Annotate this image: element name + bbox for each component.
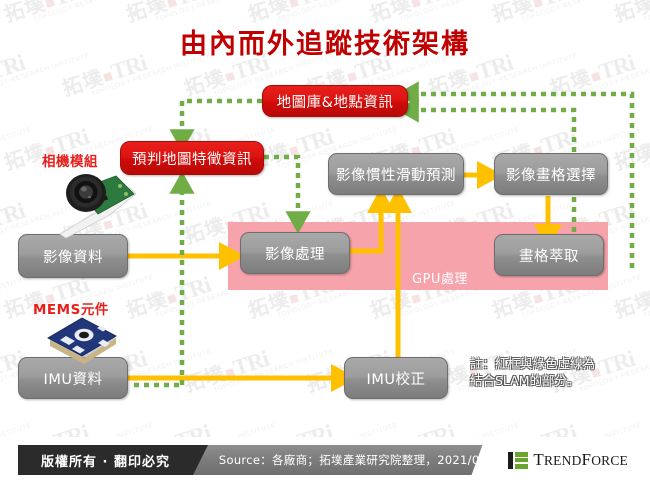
- trendforce-wordmark: TRENDFORCE: [533, 450, 628, 470]
- node-imu-calibrate-label: IMU校正: [367, 368, 426, 389]
- diagram-content: 由內而外追蹤技術架構 GPU處理: [0, 0, 650, 485]
- node-image-process[interactable]: 影像處理: [240, 232, 350, 274]
- trendforce-logo: TRENDFORCE: [487, 437, 632, 483]
- caption-camera-module: 相機模組: [42, 150, 98, 170]
- node-map-db-label: 地圖庫&地點資訊: [277, 91, 394, 112]
- node-map-feature-label: 預判地圖特徵資訊: [132, 148, 252, 169]
- source-text: Source：各廠商；拓墣產業研究院整理，2021/01: [208, 445, 498, 475]
- slam-note: 註：紅框與綠色虛線為 結合SLAM的部分。: [470, 355, 595, 389]
- logo-rend: REND: [544, 453, 582, 468]
- node-frame-select-label: 影像畫格選擇: [506, 164, 596, 185]
- slide-canvas: 拓墣■TRiTOPOLOGY RESEARCH INSTITUTE拓墣■TRiT…: [0, 0, 650, 485]
- logo-t: T: [533, 450, 544, 469]
- node-frame-extract[interactable]: 畫格萃取: [494, 234, 604, 276]
- logo-f: F: [582, 450, 592, 469]
- footer: 版權所有 · 翻印必究 Source：各廠商；拓墣產業研究院整理，2021/01…: [0, 437, 650, 485]
- slam-note-line1: 註：紅框與綠色虛線為: [470, 355, 595, 372]
- node-image-data-label: 影像資料: [43, 246, 103, 267]
- node-inertial-predict-label: 影像慣性滑動預測: [336, 164, 456, 185]
- node-map-db[interactable]: 地圖庫&地點資訊: [262, 85, 408, 117]
- node-frame-extract-label: 畫格萃取: [519, 245, 579, 266]
- node-image-process-label: 影像處理: [265, 243, 325, 264]
- mems-component-image: [40, 312, 124, 368]
- trendforce-mark-icon: [508, 452, 528, 469]
- copyright-text: 版權所有 · 翻印必究: [18, 445, 193, 475]
- gpu-region-label: GPU處理: [412, 268, 468, 287]
- node-image-data[interactable]: 影像資料: [18, 234, 128, 278]
- node-imu-data-label: IMU資料: [44, 368, 103, 389]
- camera-module-image: [42, 168, 146, 240]
- logo-orce: ORCE: [591, 453, 628, 468]
- node-inertial-predict[interactable]: 影像慣性滑動預測: [328, 153, 464, 195]
- node-frame-select[interactable]: 影像畫格選擇: [494, 153, 608, 195]
- slam-note-line2: 結合SLAM的部分。: [470, 372, 595, 389]
- node-imu-calibrate[interactable]: IMU校正: [344, 357, 448, 399]
